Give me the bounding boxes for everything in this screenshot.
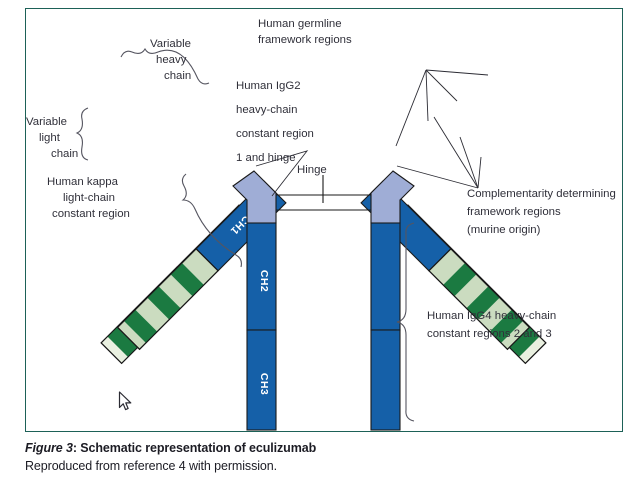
label-variable-light-chain: Variable light chain [26,116,78,160]
figure-frame: CL CH1 [25,8,623,432]
caption-credit: Reproduced from reference 4 with permiss… [25,458,625,474]
leaders-cdr [397,117,481,188]
label-variable-heavy-chain: Variable heavy chain [150,38,194,82]
label-human-kappa: Human kappa light-chain constant region [47,176,130,220]
label-cdr: Complementarity determining framework re… [467,188,619,236]
caption-title-line: Figure 3: Schematic representation of ec… [25,441,625,456]
antibody-schematic-diagram: CL CH1 [26,9,622,431]
figure-page: CL CH1 [0,0,633,485]
segment-ch2-right [371,223,400,330]
figure-caption: Figure 3: Schematic representation of ec… [25,441,625,474]
domain-label-ch2: CH2 [258,270,270,292]
caption-figure-number: Figure 3 [25,441,73,455]
label-human-germline: Human germline framework regions [258,18,352,46]
caption-title-text: : Schematic representation of eculizumab [73,441,316,455]
label-hinge: Hinge [297,164,327,176]
brace-variable-light-chain [77,108,88,160]
domain-label-ch3: CH3 [258,373,270,395]
leaders-human-germline [396,70,488,146]
segment-ch3-right [371,330,400,430]
